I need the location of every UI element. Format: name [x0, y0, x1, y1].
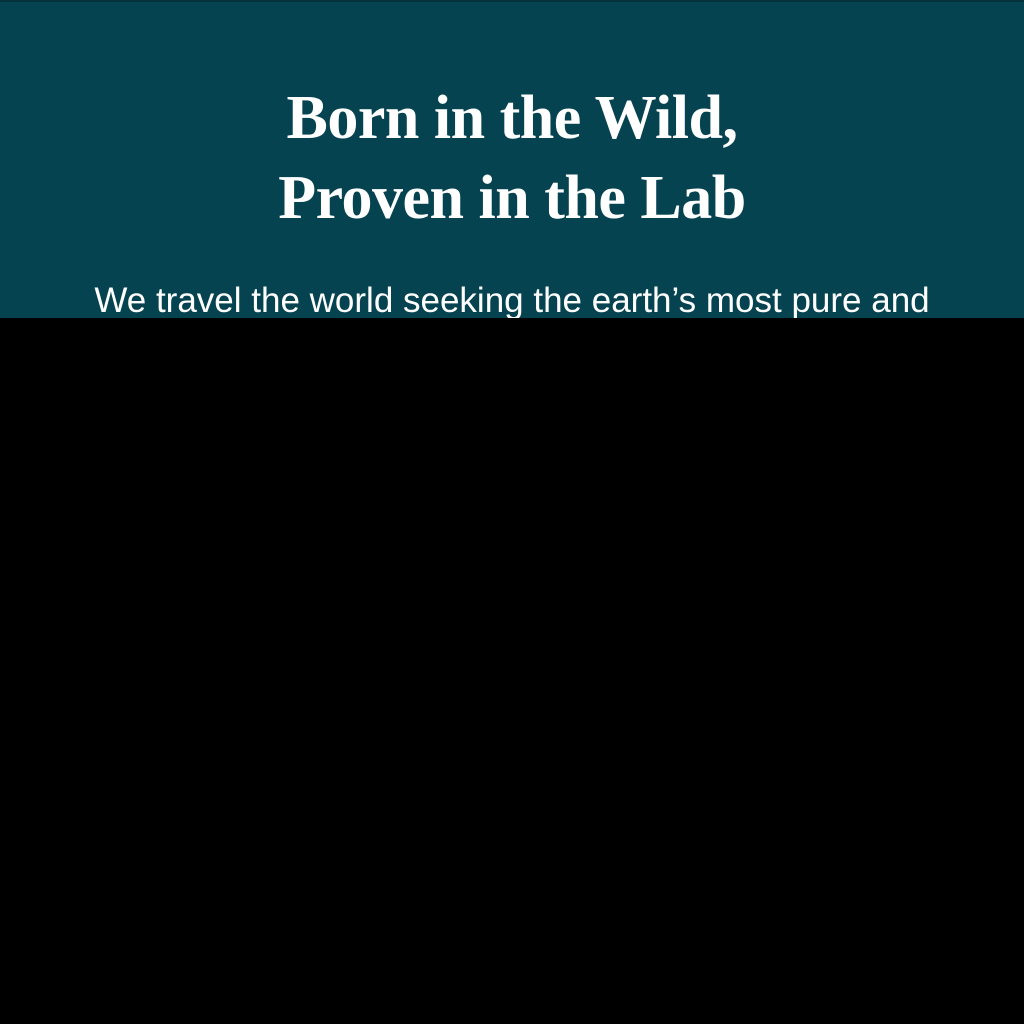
hero-heading-line-2: Proven in the Lab	[0, 158, 1024, 238]
hero-heading-line-1: Born in the Wild,	[0, 78, 1024, 158]
hero-body-text: We travel the world seeking the earth’s …	[62, 277, 962, 318]
hero-band: Born in the Wild, Proven in the Lab We t…	[0, 0, 1024, 318]
band-top-divider	[0, 0, 1024, 2]
hero-heading: Born in the Wild, Proven in the Lab	[0, 78, 1024, 238]
page-blackout-area	[0, 318, 1024, 1024]
page-root: Born in the Wild, Proven in the Lab We t…	[0, 0, 1024, 1024]
